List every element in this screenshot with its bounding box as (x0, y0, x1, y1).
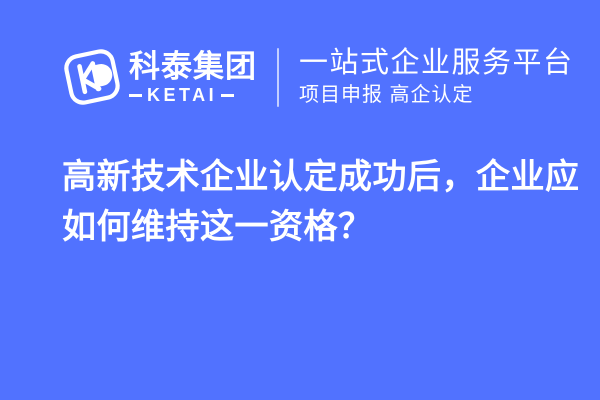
headline-line-2: 如何维持这一资格？ (62, 202, 567, 252)
company-name-en: KETAI (147, 86, 217, 105)
company-name-cn: 科泰集团 (129, 50, 257, 84)
promo-banner: 科泰集团 KETAI 一站式企业服务平台 项目申报 高企认定 高新技术企业认定成… (0, 0, 600, 400)
tagline-main: 一站式企业服务平台 (299, 46, 574, 80)
brand-header: 科泰集团 KETAI 一站式企业服务平台 项目申报 高企认定 (62, 40, 574, 114)
company-logo[interactable]: 科泰集团 KETAI (62, 40, 257, 114)
brand-divider (277, 48, 279, 107)
ketai-kd-monogram-icon (62, 47, 122, 107)
tagline-sub: 项目申报 高企认定 (299, 82, 574, 108)
logo-wordmark: 科泰集团 KETAI (129, 50, 257, 105)
wordmark-rule-right (221, 94, 234, 97)
headline-line-1: 高新技术企业认定成功后，企业应 (62, 152, 567, 202)
company-name-en-row: KETAI (129, 86, 257, 105)
headline: 高新技术企业认定成功后，企业应 如何维持这一资格？ (62, 152, 567, 252)
wordmark-rule-left (129, 94, 142, 97)
tagline-block: 一站式企业服务平台 项目申报 高企认定 (299, 43, 574, 111)
